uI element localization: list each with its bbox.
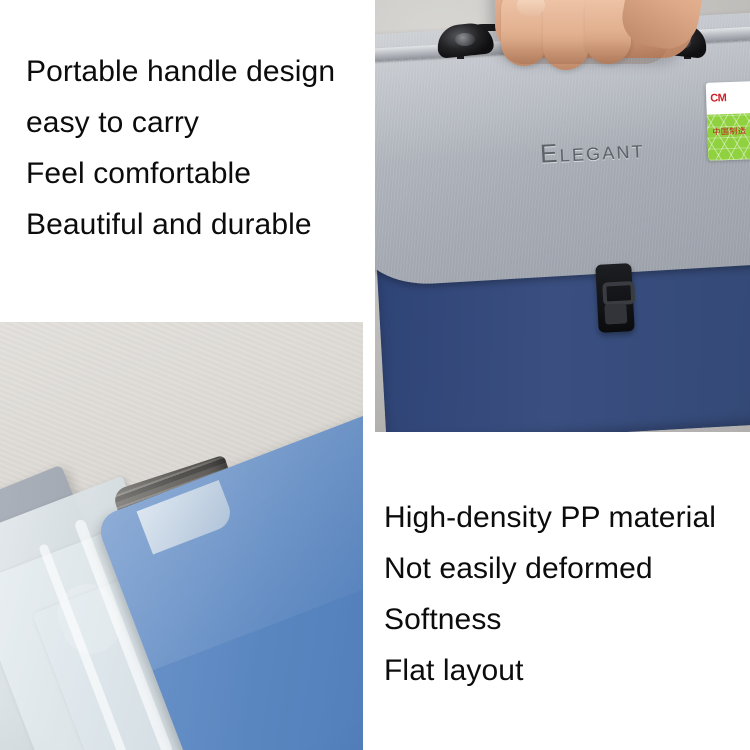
- photo-hand-carrying-case: Elegant CM 中国制造: [375, 0, 750, 432]
- feature-line: Softness: [384, 594, 716, 645]
- product-feature-collage: Elegant CM 中国制造: [0, 0, 750, 750]
- photo-accordion-folder-closeup: A B C D E F G H: [0, 322, 363, 750]
- brand-logo-text: Elegant: [539, 133, 645, 169]
- clasp-loop: [602, 281, 635, 306]
- feature-line: Portable handle design: [26, 46, 335, 97]
- feature-text-top-left: Portable handle design easy to carry Fee…: [26, 46, 335, 250]
- sticker-chinese-text: 中国制造: [712, 125, 746, 137]
- feature-line: Beautiful and durable: [26, 199, 335, 250]
- sticker-logo-text: CM: [710, 92, 727, 105]
- feature-line: easy to carry: [26, 97, 335, 148]
- clasp-tab: [604, 303, 627, 324]
- feature-line: Feel comfortable: [26, 148, 335, 199]
- product-label-sticker: CM 中国制造: [706, 81, 750, 161]
- feature-line: Not easily deformed: [384, 543, 716, 594]
- feature-line: High-density PP material: [384, 492, 716, 543]
- feature-line: Flat layout: [384, 645, 716, 696]
- feature-text-bottom-right: High-density PP material Not easily defo…: [384, 492, 716, 696]
- handle-rivet-left: [455, 33, 475, 46]
- case-clasp-latch: [595, 263, 635, 333]
